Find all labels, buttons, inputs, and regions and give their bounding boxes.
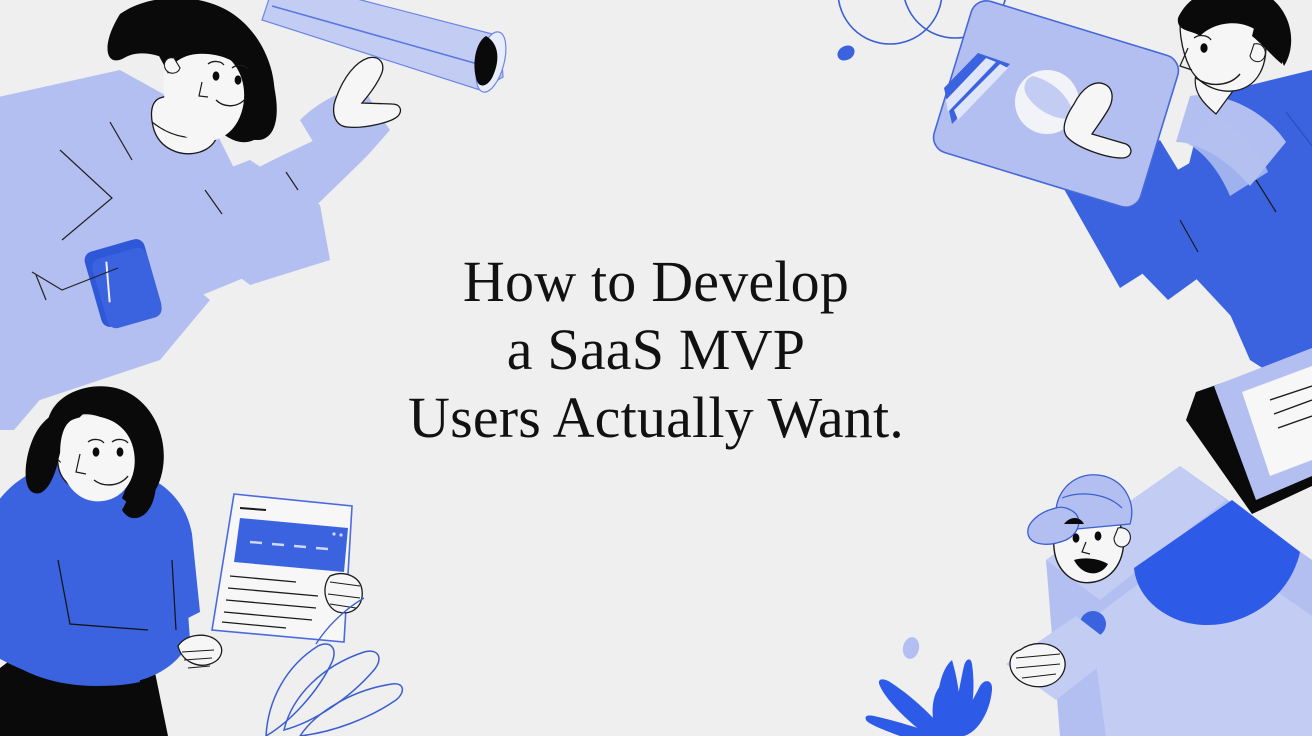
- man-br-face: [1054, 503, 1124, 582]
- woman-tl-neck: [152, 95, 219, 153]
- tablet-stripe-1: [946, 58, 996, 112]
- document-text-lines: [222, 576, 318, 628]
- woman-tl-ear: [164, 58, 180, 74]
- man-br-blue-pocket: [1134, 500, 1300, 625]
- man-br-body-top: [1046, 466, 1226, 600]
- woman-tl-eye-right: [235, 75, 242, 84]
- woman-tl-hair-back: [108, 0, 275, 142]
- document-mockup: [212, 494, 352, 642]
- woman-tl-arm: [250, 105, 390, 230]
- woman-bl-fold-1: [58, 560, 148, 630]
- solid-blue-plant: [866, 659, 993, 736]
- man-br-cap-seam: [1062, 494, 1122, 508]
- woman-tl-hair-side: [218, 24, 277, 140]
- document-dot-1: [332, 532, 335, 535]
- man-tr-line-3: [1286, 112, 1312, 146]
- woman-bl-shoulder: [120, 470, 200, 630]
- man-br-ear: [1114, 528, 1130, 547]
- rolled-poster: [262, 0, 512, 95]
- woman-tl-fold-4: [286, 172, 298, 190]
- woman-bl-hand-right: [325, 574, 362, 613]
- document-nav-banner: [234, 518, 348, 572]
- woman-tl-fold-3: [205, 190, 222, 214]
- man-tr-ear: [1250, 44, 1265, 62]
- woman-tl-fringe: [157, 30, 261, 91]
- woman-tl-eye-left: [213, 71, 220, 80]
- periwinkle-small-leaf: [901, 636, 921, 661]
- man-tr-smile: [1196, 74, 1240, 84]
- woman-bl-nose: [76, 454, 86, 474]
- man-br-blue-dot-button: [1080, 611, 1106, 637]
- tablet-leaf-motif: [1024, 76, 1074, 119]
- man-tr-face: [1180, 2, 1266, 91]
- woman-tl-hand: [334, 57, 401, 127]
- blue-dot-ellipse: [835, 42, 858, 63]
- thin-circle-outline-large: [838, 0, 942, 44]
- man-br-body-panel: [1046, 466, 1312, 736]
- document-nav-items: [250, 542, 328, 549]
- hero-title-block: How to Develop a SaaS MVP Users Actually…: [0, 248, 1312, 452]
- woman-tl-collar-line: [152, 122, 214, 137]
- periwinkle-tablet: [930, 0, 1183, 211]
- man-tr-hair: [1178, 0, 1291, 66]
- woman-bl-smile: [94, 476, 128, 485]
- woman-bl-fingers-right: [328, 582, 360, 608]
- man-br-cap-crown: [1056, 475, 1132, 530]
- woman-tl-smile: [216, 98, 246, 106]
- woman-bl-arm-lower: [0, 600, 140, 686]
- man-tr-collar: [1176, 95, 1286, 186]
- woman-tl-face: [164, 46, 245, 141]
- document-caption: [240, 508, 266, 510]
- woman-bl-hand-lower: [178, 635, 222, 665]
- thin-circle-outline-small: [903, 0, 1007, 38]
- tablet-stripe-2: [954, 64, 1008, 120]
- man-tr-neck: [1195, 70, 1238, 114]
- man-tr-hair-side: [1252, 20, 1282, 64]
- man-br-eye-left: [1073, 533, 1080, 542]
- man-br-small-panel: [1006, 616, 1120, 700]
- woman-tl-nose: [199, 82, 208, 97]
- document-dot-2: [339, 533, 342, 536]
- woman-bl-arm-right: [116, 600, 186, 670]
- man-tr-eye: [1200, 43, 1207, 53]
- man-br-hair-tuft: [1064, 518, 1084, 524]
- woman-bl-fold-2: [172, 560, 176, 630]
- hero-title-line-1: How to Develop: [0, 248, 1312, 316]
- document-page: [212, 494, 352, 642]
- man-br-nose: [1082, 542, 1090, 554]
- hero-title-line-3: Users Actually Want.: [0, 384, 1312, 452]
- man-br-eye-right: [1095, 531, 1102, 540]
- outline-frond-leaves: [266, 598, 402, 736]
- man-br-hand: [1010, 644, 1065, 687]
- woman-tl-fold-1: [60, 150, 112, 240]
- man-tr-hand: [1064, 83, 1131, 158]
- woman-bl-collar: [56, 458, 128, 476]
- hero-cover-canvas: How to Develop a SaaS MVP Users Actually…: [0, 0, 1312, 736]
- man-tr-nose: [1180, 48, 1192, 70]
- man-br-smile: [1074, 558, 1108, 573]
- man-br-cap-brim: [1028, 507, 1079, 544]
- tablet-circle-motif: [1015, 70, 1079, 134]
- woman-bl-sweater: [0, 460, 190, 686]
- tablet-corner-accent: [944, 53, 1010, 124]
- woman-tl-forearm: [300, 86, 378, 150]
- man-br-fingers: [1016, 654, 1060, 678]
- hero-title-line-2: a SaaS MVP: [0, 316, 1312, 384]
- woman-tl-brow-right: [232, 65, 248, 69]
- woman-bl-skirt: [0, 636, 168, 736]
- woman-tl-brow-left: [208, 61, 224, 65]
- man-tr-brow: [1194, 36, 1211, 40]
- man-tr-collar-shade: [1188, 118, 1268, 196]
- woman-bl-fingers: [182, 650, 214, 668]
- man-br-body-lower: [1090, 538, 1312, 736]
- woman-tl-fold-2: [110, 122, 132, 160]
- man-tr-line-1: [1256, 180, 1276, 212]
